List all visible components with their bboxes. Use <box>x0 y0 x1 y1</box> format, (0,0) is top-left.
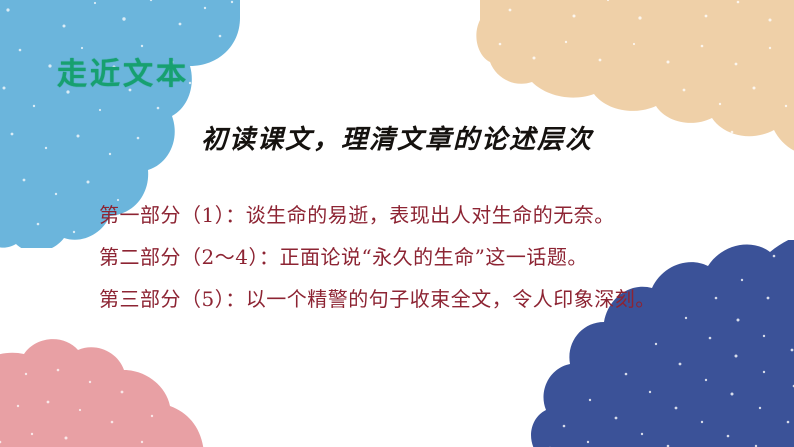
pink-cloud-decoration <box>0 330 210 447</box>
slide-canvas: 走近文本 初读课文，理清文章的论述层次 第一部分（1）：谈生命的易逝，表现出人对… <box>0 0 794 447</box>
page-title: 走近文本 <box>57 49 189 93</box>
subtitle-heading: 初读课文，理清文章的论述层次 <box>0 119 794 156</box>
list-item: 第二部分（2～4）：正面论说“永久的生命”这一话题。 <box>99 236 759 278</box>
list-item: 第三部分（5）：以一个精警的句子收束全文，令人印象深刻。 <box>99 278 759 320</box>
content-list: 第一部分（1）：谈生命的易逝，表现出人对生命的无奈。 第二部分（2～4）：正面论… <box>99 194 759 320</box>
list-item: 第一部分（1）：谈生命的易逝，表现出人对生命的无奈。 <box>99 194 759 236</box>
